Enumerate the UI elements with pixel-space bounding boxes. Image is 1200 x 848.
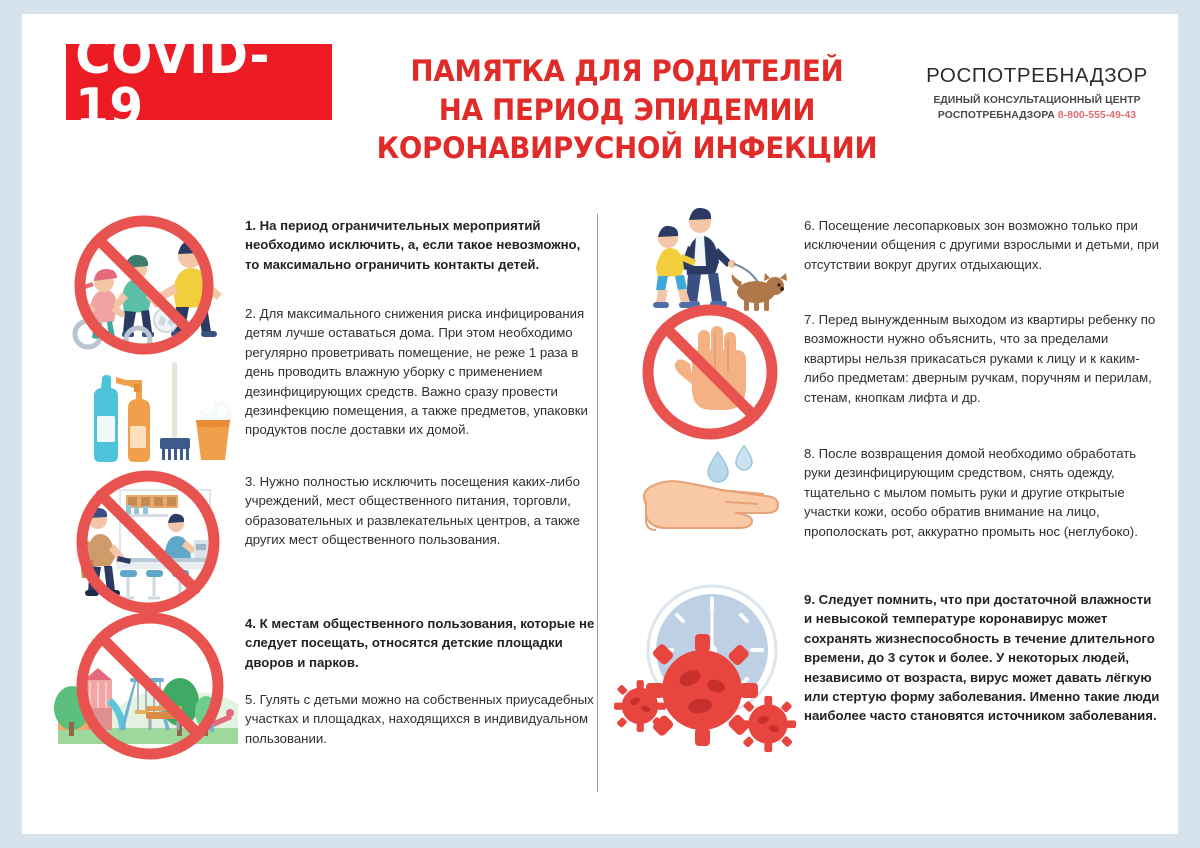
left-item-3-text: 3. Нужно полностью исключить посещения к… bbox=[245, 472, 597, 550]
organization-name: РОСПОТРЕБНАДЗОР bbox=[912, 64, 1162, 88]
left-item-2-text: 2. Для максимального снижения риска инфи… bbox=[245, 304, 597, 440]
right-item-6-text: 6. Посещение лесопарковых зон возможно т… bbox=[804, 216, 1159, 274]
father-child-dog-walk-icon bbox=[630, 206, 790, 316]
hand-washing-water-drops-icon bbox=[630, 442, 795, 547]
children-playing-prohibited-icon bbox=[58, 212, 233, 362]
cleaning-supplies-icon bbox=[72, 356, 237, 471]
covid-19-badge: COVID-19 bbox=[66, 44, 332, 120]
organization-subtitle: ЕДИНЫЙ КОНСУЛЬТАЦИОННЫЙ ЦЕНТР РОСПОТРЕБН… bbox=[912, 94, 1162, 123]
playground-prohibited-icon bbox=[58, 612, 238, 762]
left-item-1-text: 1. На период ограничительных мероприятий… bbox=[245, 216, 590, 274]
poster-header: COVID-19 ПАМЯТКА ДЛЯ РОДИТЕЛЕЙ НА ПЕРИОД… bbox=[22, 14, 1178, 194]
consultation-center-phone-line: РОСПОТРЕБНАДЗОРА 8-800-555-49-43 bbox=[912, 109, 1162, 124]
title-line-3: КОРОНАВИРУСНОЙ ИНФЕКЦИИ bbox=[366, 129, 889, 168]
left-item-4-text: 4. К местам общественного пользования, к… bbox=[245, 614, 597, 672]
column-divider bbox=[597, 214, 598, 792]
clock-virus-survival-icon bbox=[620, 572, 805, 762]
hotline-phone-number[interactable]: 8-800-555-49-43 bbox=[1058, 110, 1136, 121]
right-item-9-text: 9. Следует помнить, что при достаточной … bbox=[804, 590, 1162, 726]
title-line-1: ПАМЯТКА ДЛЯ РОДИТЕЛЕЙ bbox=[366, 52, 889, 91]
left-item-5-text: 5. Гулять с детьми можно на собственных … bbox=[245, 690, 597, 748]
consultation-center-line: ЕДИНЫЙ КОНСУЛЬТАЦИОННЫЙ ЦЕНТР bbox=[912, 94, 1162, 109]
rospotrebnadzor-logo-block: РОСПОТРЕБНАДЗОР ЕДИНЫЙ КОНСУЛЬТАЦИОННЫЙ … bbox=[912, 64, 1162, 123]
poster-content: 1. На период ограничительных мероприятий… bbox=[22, 194, 1178, 834]
poster-title: ПАМЯТКА ДЛЯ РОДИТЕЛЕЙ НА ПЕРИОД ЭПИДЕМИИ… bbox=[352, 52, 902, 168]
right-item-7-text: 7. Перед вынужденным выходом из квартиры… bbox=[804, 310, 1162, 407]
do-not-touch-hand-prohibited-icon bbox=[630, 304, 790, 444]
title-line-2: НА ПЕРИОД ЭПИДЕМИИ bbox=[366, 91, 889, 130]
cafe-visit-prohibited-icon bbox=[58, 466, 233, 616]
organization-genitive-name: РОСПОТРЕБНАДЗОРА bbox=[938, 110, 1055, 121]
right-item-8-text: 8. После возвращения домой необходимо об… bbox=[804, 444, 1162, 541]
poster-page: COVID-19 ПАМЯТКА ДЛЯ РОДИТЕЛЕЙ НА ПЕРИОД… bbox=[22, 14, 1178, 834]
covid-19-badge-label: COVID-19 bbox=[75, 30, 322, 134]
